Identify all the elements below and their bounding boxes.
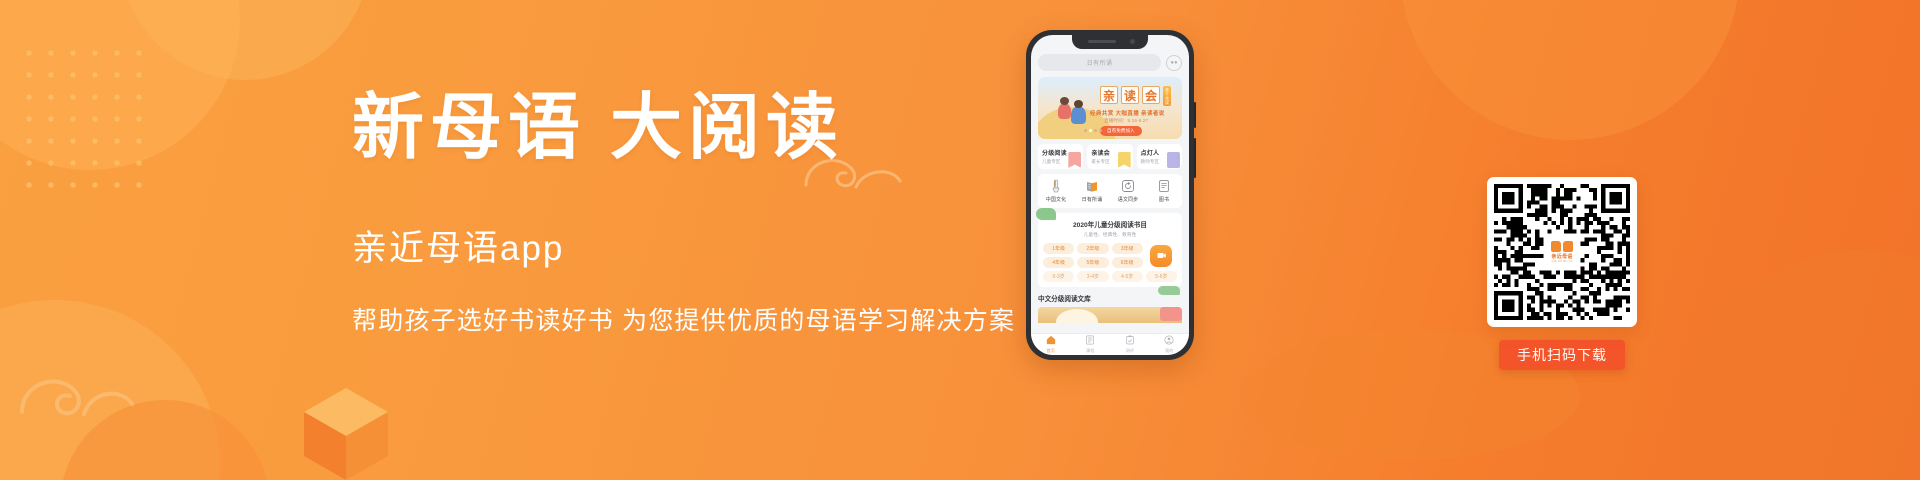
user-icon [1150,335,1190,347]
age-pill-1[interactable]: 0-3岁 [1043,271,1074,282]
decor-circle-top-left [0,0,240,170]
hero-cta-button[interactable]: 自有免费加入 [1100,126,1142,136]
tab-label: 我的 [1150,348,1190,354]
decor-leaf-icon [1036,208,1056,220]
open-book-icon [1085,179,1099,193]
carousel-dot[interactable] [1084,129,1087,132]
search-placeholder: 日有所诵 [1087,58,1113,67]
library-shelf-image [1038,307,1182,323]
tab-label: 首页 [1031,348,1071,354]
age-pill-4[interactable]: 5-6岁 [1146,271,1177,282]
phone-screen: 日有所诵 ●● 亲 读 会 亲子共读 经典共赏 大咖直播 亲读者说 [1031,35,1189,355]
hero-char-3: 会 [1142,86,1160,104]
list-icon [1071,335,1111,347]
decor-circle-top-right [1400,0,1740,140]
page-title: 新母语 大阅读 [352,90,1012,168]
tab-courses[interactable]: 课程 [1071,335,1111,355]
decor-leaf-icon-2 [1158,286,1180,295]
banner-copy: 新母语 大阅读 亲近母语app 帮助孩子选好书读好书 为您提供优质的母语学习解决… [352,90,1012,337]
book-icon [1157,179,1171,193]
lantern-icon [1049,179,1063,193]
tab-label: 课程 [1071,348,1111,354]
bookmark-red-icon [1068,152,1081,168]
grade-pill-2[interactable]: 2年级 [1077,243,1108,254]
hero-banner-card[interactable]: 亲 读 会 亲子共读 经典共赏 大咖直播 亲读者说 直播时间：9.16-9.27… [1038,77,1182,139]
hero-char-2: 读 [1121,86,1139,104]
quick-link-chinese-culture[interactable]: 中国文化 [1038,179,1074,203]
tagline: 帮助孩子选好书读好书 为您提供优质的母语学习解决方案 [352,301,1012,337]
carousel-dot[interactable] [1099,129,1102,132]
hero-title: 亲 读 会 亲子共读 [1100,86,1171,106]
app-name: 亲近母语app [352,220,1012,271]
library-section[interactable]: 中文分级阅读文库 [1038,293,1182,323]
message-icon[interactable]: ●● [1166,55,1182,71]
promo-banner: 新母语 大阅读 亲近母语app 帮助孩子选好书读好书 为您提供优质的母语学习解决… [0,0,1920,480]
search-row: 日有所诵 ●● [1038,54,1182,71]
decor-cloud-corner-icon [18,350,138,420]
home-icon [1031,335,1071,347]
quick-link-label: 图书 [1146,196,1182,203]
app-screen-content: 日有所诵 ●● 亲 读 会 亲子共读 经典共赏 大咖直播 亲读者说 [1031,35,1189,355]
download-button[interactable]: 手机扫码下载 [1499,340,1625,370]
quick-link-label: 日有所诵 [1074,196,1110,203]
category-card-teacher[interactable]: 点灯人 教师专区 [1137,144,1182,169]
tab-label: 测评 [1110,348,1150,354]
quick-link-row: 中国文化 日有所诵 [1038,174,1182,208]
decor-circle-top-left-2 [120,0,370,80]
decor-dot-grid [18,42,150,192]
carousel-dots[interactable] [1084,129,1102,132]
decor-circle-bottom-left [0,300,220,480]
grade-pill-5[interactable]: 5年级 [1077,257,1108,268]
hero-char-1: 亲 [1100,86,1118,104]
qr-download-block: 亲近母语 QIN JIN MU YU 手机扫码下载 [1487,177,1637,370]
quick-link-label: 语文同步 [1110,196,1146,203]
clipboard-check-icon [1110,335,1150,347]
hero-kid-figure-2 [1071,106,1086,124]
quick-link-label: 中国文化 [1038,196,1074,203]
age-pill-3[interactable]: 4-5岁 [1112,271,1143,282]
category-card-graded-reading[interactable]: 分级阅读 儿童专区 [1038,144,1083,169]
grade-pill-1[interactable]: 1年级 [1043,243,1074,254]
phone-side-button-upper [1194,102,1196,128]
tab-profile[interactable]: 我的 [1150,335,1190,355]
category-card-parent-club[interactable]: 亲读会 家长专区 [1087,144,1132,169]
carousel-dot[interactable] [1094,129,1097,132]
grade-grid: 1年级 2年级 3年级 4年级 5年级 6年级 0-3岁 [1043,243,1177,282]
booklist-title: 2020年儿童分级阅读书目 [1043,219,1177,229]
hero-date: 直播时间：9.16-9.27 [1104,118,1148,124]
decor-circle-bottom-left-2 [60,400,270,480]
bottom-tab-bar: 首页 课程 [1031,333,1189,355]
phone-mockup: 日有所诵 ●● 亲 读 会 亲子共读 经典共赏 大咖直播 亲读者说 [1026,30,1194,360]
booklist-section: 2020年儿童分级阅读书目 儿童性、经典性、教育性 1年级 2年级 3年级 4年 [1038,213,1182,287]
play-video-icon[interactable] [1150,245,1172,267]
hero-side-tag: 亲子共读 [1163,86,1171,106]
hero-kid-figure-1 [1058,103,1071,119]
refresh-square-icon [1121,179,1135,193]
phone-notch [1072,35,1148,49]
hero-subtitle: 经典共赏 大咖直播 亲读者说 [1090,109,1165,117]
category-cards: 分级阅读 儿童专区 亲读会 家长专区 点灯人 教师专区 [1038,144,1182,169]
tab-home[interactable]: 首页 [1031,335,1071,355]
logo-name-pinyin: QIN JIN MU YU [1552,260,1573,263]
logo-books-icon [1551,241,1573,252]
quick-link-books[interactable]: 图书 [1146,179,1182,203]
phone-side-button-lower [1194,138,1196,178]
quick-link-language-sync[interactable]: 语文同步 [1110,179,1146,203]
qr-center-logo: 亲近母语 QIN JIN MU YU [1545,235,1579,269]
bookmark-yellow-icon [1118,152,1131,168]
decor-circle-bottom-right [1680,250,1920,480]
library-shelf-accent [1160,307,1182,321]
tab-assessment[interactable]: 测评 [1110,335,1150,355]
age-pill-2[interactable]: 3-4岁 [1077,271,1108,282]
decor-cube-icon [300,382,392,480]
grade-pill-3[interactable]: 3年级 [1112,243,1143,254]
grade-pill-4[interactable]: 4年级 [1043,257,1074,268]
booklist-subtitle: 儿童性、经典性、教育性 [1043,231,1177,238]
grade-pill-6[interactable]: 6年级 [1112,257,1143,268]
lamp-purple-icon [1167,152,1180,168]
search-input[interactable]: 日有所诵 [1038,54,1161,71]
qr-code[interactable]: 亲近母语 QIN JIN MU YU [1487,177,1637,327]
quick-link-daily-recite[interactable]: 日有所诵 [1074,179,1110,203]
carousel-dot-active[interactable] [1089,129,1092,132]
